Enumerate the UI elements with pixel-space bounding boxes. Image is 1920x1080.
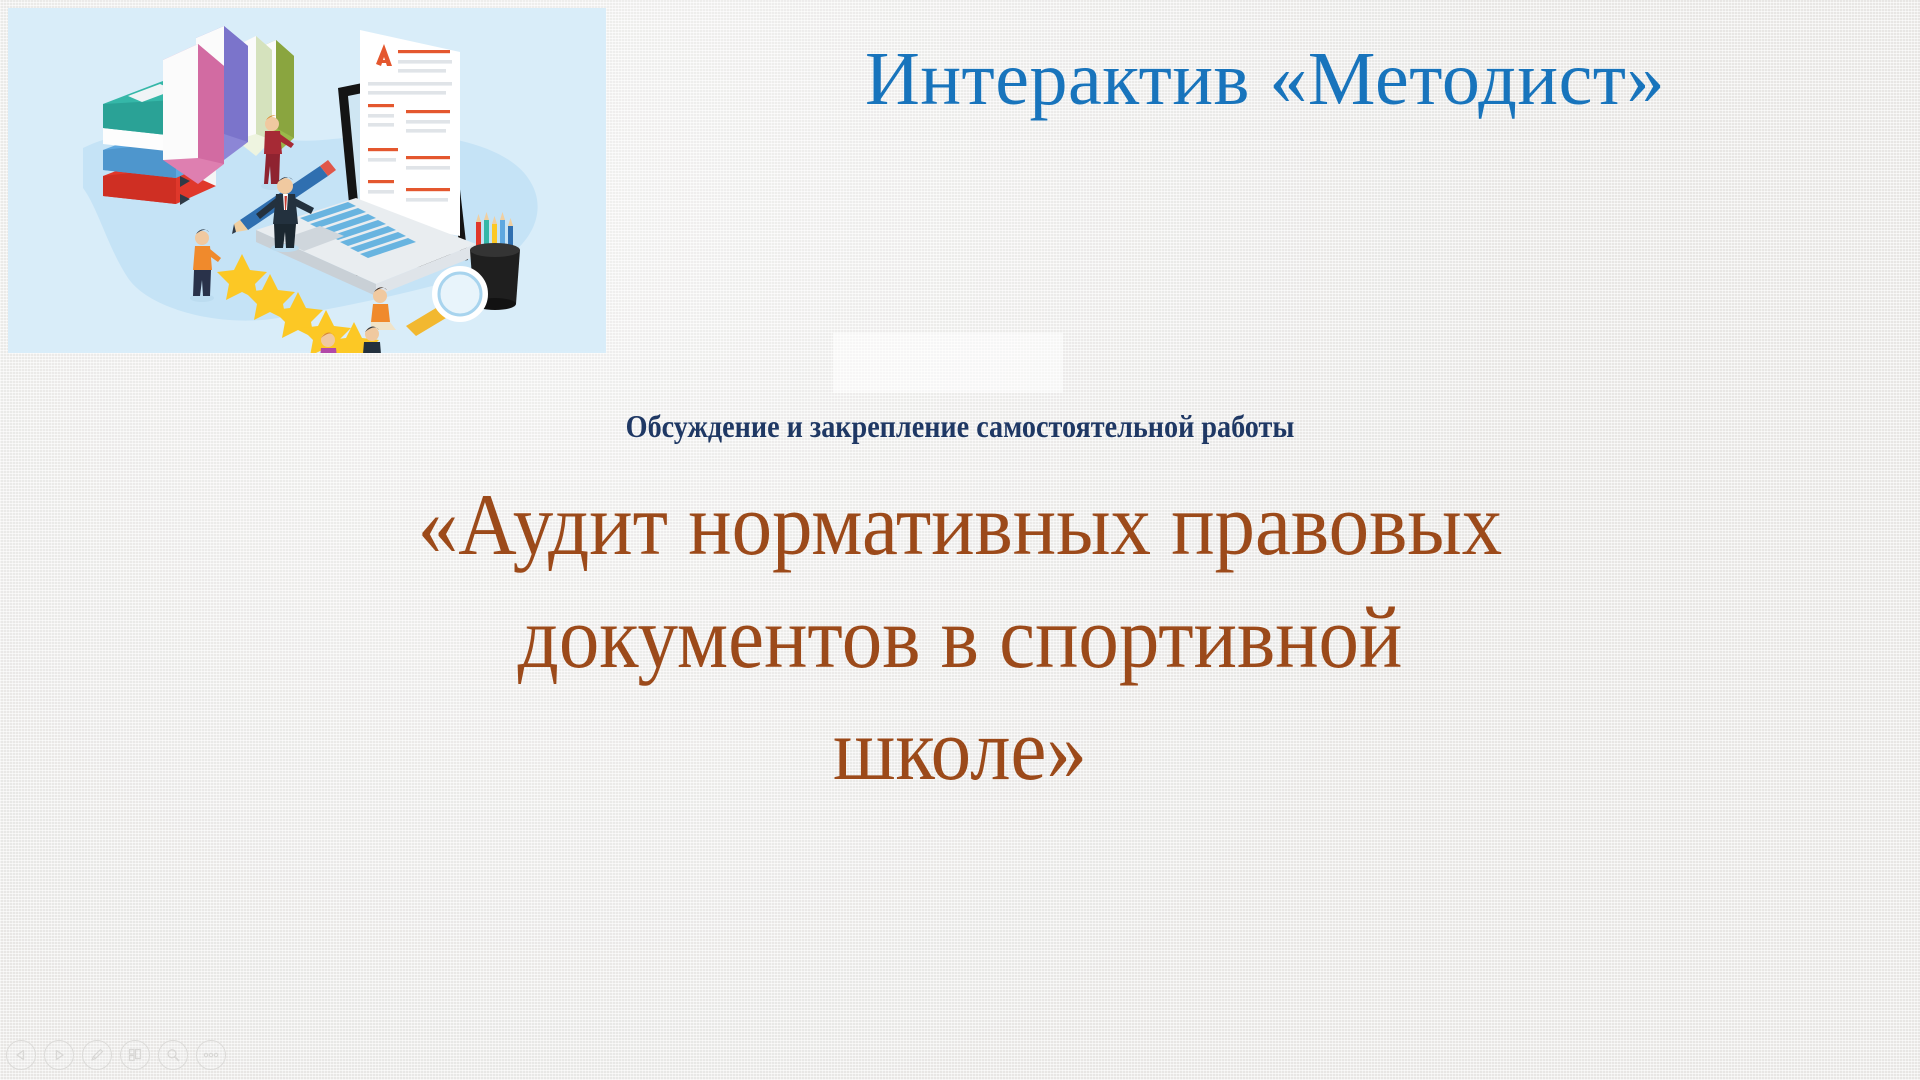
main-heading-line-2: документов в спортивной	[233, 583, 1687, 696]
main-heading-line-3: школе»	[233, 695, 1687, 808]
ellipsis-icon	[202, 1051, 220, 1059]
main-heading: «Аудит нормативных правовых документов в…	[170, 470, 1750, 808]
main-heading-line-1: «Аудит нормативных правовых	[233, 470, 1687, 583]
subtitle-text: Обсуждение и закрепление самостоятельной…	[256, 408, 1664, 445]
slide-grid-button[interactable]	[120, 1040, 150, 1070]
grid-icon	[127, 1047, 143, 1063]
pen-annotate-button[interactable]	[82, 1040, 112, 1070]
presentation-slide: Интерактив «Методист» Обсуждение и закре…	[0, 0, 1920, 1080]
triangle-right-icon	[52, 1048, 66, 1062]
previous-slide-button[interactable]	[6, 1040, 36, 1070]
illustration-image	[8, 8, 606, 353]
zoom-button[interactable]	[158, 1040, 188, 1070]
pen-icon	[89, 1047, 105, 1063]
next-slide-button[interactable]	[44, 1040, 74, 1070]
magnifier-icon	[165, 1047, 181, 1063]
page-title: Интерактив «Методист»	[640, 40, 1890, 120]
slideshow-toolbar	[6, 1040, 226, 1070]
triangle-left-icon	[14, 1048, 28, 1062]
more-options-button[interactable]	[196, 1040, 226, 1070]
illustration-svg	[8, 8, 606, 353]
empty-content-placeholder[interactable]	[833, 333, 1063, 393]
